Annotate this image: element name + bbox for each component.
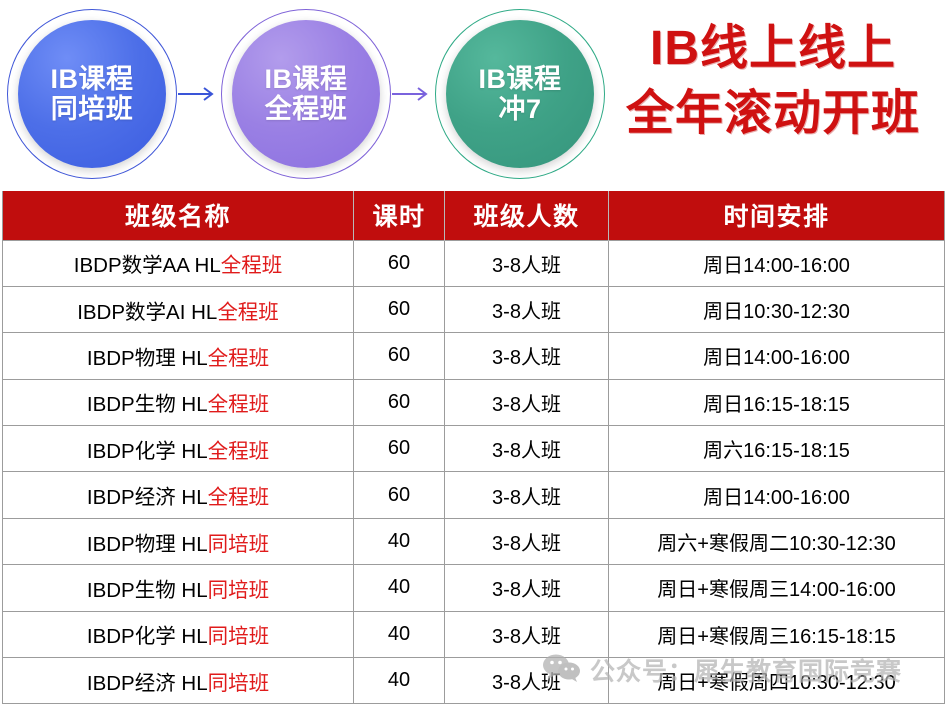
cell-class-name: IBDP生物 HL同培班 (3, 565, 354, 611)
badge-ib-tongpeiban: IB课程 同培班 (12, 14, 172, 174)
arrow-right-icon (178, 84, 220, 104)
class-name-tag: 同培班 (208, 625, 270, 648)
cell-schedule-time: 周六16:15-18:15 (609, 426, 945, 472)
cell-schedule-time: 周日14:00-16:00 (609, 240, 945, 286)
cell-class-name: IBDP经济 HL全程班 (3, 472, 354, 518)
cell-schedule-time: 周六+寒假周二10:30-12:30 (609, 518, 945, 564)
cell-schedule-time: 周日+寒假周三14:00-16:00 (609, 565, 945, 611)
cell-class-name: IBDP物理 HL同培班 (3, 518, 354, 564)
cell-class-size: 3-8人班 (445, 472, 609, 518)
cell-schedule-time: 周日+寒假周三16:15-18:15 (609, 611, 945, 657)
class-name-tag: 全程班 (208, 440, 270, 463)
cell-schedule-time: 周日+寒假周四10:30-12:30 (609, 658, 945, 704)
table-row: IBDP化学 HL同培班403-8人班周日+寒假周三16:15-18:15 (3, 611, 945, 657)
header-banner: IB课程 同培班 IB课程 全程班 (0, 0, 946, 188)
cell-class-name: IBDP物理 HL全程班 (3, 333, 354, 379)
cell-schedule-time: 周日10:30-12:30 (609, 286, 945, 332)
cell-hours: 60 (354, 240, 445, 286)
cell-class-size: 3-8人班 (445, 379, 609, 425)
table-row: IBDP经济 HL全程班603-8人班周日14:00-16:00 (3, 472, 945, 518)
badge-ib-quanchengban: IB课程 全程班 (226, 14, 386, 174)
badge-label-line2: 同培班 (51, 94, 134, 124)
class-name-tag: 全程班 (217, 301, 279, 324)
badge-label-line1: IB课程 (479, 64, 562, 94)
headline-line-2: 全年滚动开班 (608, 81, 938, 146)
cell-schedule-time: 周日14:00-16:00 (609, 333, 945, 379)
cell-class-size: 3-8人班 (445, 333, 609, 379)
table-row: IBDP经济 HL同培班403-8人班周日+寒假周四10:30-12:30 (3, 658, 945, 704)
class-name-tag: 全程班 (221, 254, 283, 277)
table-row: IBDP生物 HL全程班603-8人班周日16:15-18:15 (3, 379, 945, 425)
cell-class-size: 3-8人班 (445, 426, 609, 472)
class-name-tag: 全程班 (208, 393, 270, 416)
cell-hours: 40 (354, 611, 445, 657)
badge-label-line1: IB课程 (51, 64, 134, 94)
cell-class-name: IBDP化学 HL全程班 (3, 426, 354, 472)
badge-label-line2: 全程班 (265, 94, 348, 124)
table-row: IBDP数学AA HL全程班603-8人班周日14:00-16:00 (3, 240, 945, 286)
cell-class-name: IBDP经济 HL同培班 (3, 658, 354, 704)
class-name-main: IBDP化学 HL (87, 625, 208, 648)
class-name-tag: 同培班 (208, 533, 270, 556)
headline-line-1: IB线上线上 (608, 16, 938, 81)
cell-hours: 60 (354, 379, 445, 425)
cell-hours: 60 (354, 426, 445, 472)
cell-class-size: 3-8人班 (445, 518, 609, 564)
class-name-main: IBDP数学AI HL (77, 301, 217, 324)
table-row: IBDP化学 HL全程班603-8人班周六16:15-18:15 (3, 426, 945, 472)
class-name-tag: 全程班 (208, 486, 270, 509)
column-header-class-size: 班级人数 (445, 191, 609, 240)
class-name-main: IBDP生物 HL (87, 579, 208, 602)
cell-hours: 40 (354, 518, 445, 564)
cell-hours: 60 (354, 333, 445, 379)
table-header-row: 班级名称 课时 班级人数 时间安排 (3, 191, 945, 240)
cell-hours: 40 (354, 658, 445, 704)
class-schedule-table: 班级名称 课时 班级人数 时间安排 IBDP数学AA HL全程班603-8人班周… (2, 191, 945, 704)
class-name-main: IBDP经济 HL (87, 672, 208, 695)
table-row: IBDP生物 HL同培班403-8人班周日+寒假周三14:00-16:00 (3, 565, 945, 611)
cell-class-size: 3-8人班 (445, 286, 609, 332)
cell-class-size: 3-8人班 (445, 565, 609, 611)
class-name-tag: 同培班 (208, 579, 270, 602)
cell-class-size: 3-8人班 (445, 611, 609, 657)
class-name-main: IBDP物理 HL (87, 533, 208, 556)
headline-title: IB线上线上 全年滚动开班 (608, 16, 938, 147)
cell-class-size: 3-8人班 (445, 240, 609, 286)
class-name-main: IBDP生物 HL (87, 393, 208, 416)
class-name-main: IBDP数学AA HL (74, 254, 221, 277)
cell-schedule-time: 周日16:15-18:15 (609, 379, 945, 425)
table-body: IBDP数学AA HL全程班603-8人班周日14:00-16:00IBDP数学… (3, 240, 945, 704)
class-name-main: IBDP经济 HL (87, 486, 208, 509)
cell-schedule-time: 周日14:00-16:00 (609, 472, 945, 518)
column-header-class-name: 班级名称 (3, 191, 354, 240)
cell-hours: 60 (354, 286, 445, 332)
class-name-tag: 全程班 (208, 347, 270, 370)
cell-hours: 60 (354, 472, 445, 518)
cell-class-name: IBDP数学AI HL全程班 (3, 286, 354, 332)
badge-label-line1: IB课程 (265, 64, 348, 94)
column-header-hours: 课时 (354, 191, 445, 240)
table-row: IBDP物理 HL全程班603-8人班周日14:00-16:00 (3, 333, 945, 379)
cell-class-name: IBDP数学AA HL全程班 (3, 240, 354, 286)
cell-hours: 40 (354, 565, 445, 611)
poster-page: IB课程 同培班 IB课程 全程班 (0, 0, 946, 708)
class-name-main: IBDP物理 HL (87, 347, 208, 370)
column-header-schedule: 时间安排 (609, 191, 945, 240)
cell-class-name: IBDP化学 HL同培班 (3, 611, 354, 657)
cell-class-name: IBDP生物 HL全程班 (3, 379, 354, 425)
course-progression-badges: IB课程 同培班 IB课程 全程班 (12, 14, 600, 174)
class-name-main: IBDP化学 HL (87, 440, 208, 463)
table-row: IBDP物理 HL同培班403-8人班周六+寒假周二10:30-12:30 (3, 518, 945, 564)
class-name-tag: 同培班 (208, 672, 270, 695)
badge-label-line2: 冲7 (498, 94, 541, 124)
arrow-right-icon (392, 84, 434, 104)
table-row: IBDP数学AI HL全程班603-8人班周日10:30-12:30 (3, 286, 945, 332)
badge-ib-chong7: IB课程 冲7 (440, 14, 600, 174)
cell-class-size: 3-8人班 (445, 658, 609, 704)
